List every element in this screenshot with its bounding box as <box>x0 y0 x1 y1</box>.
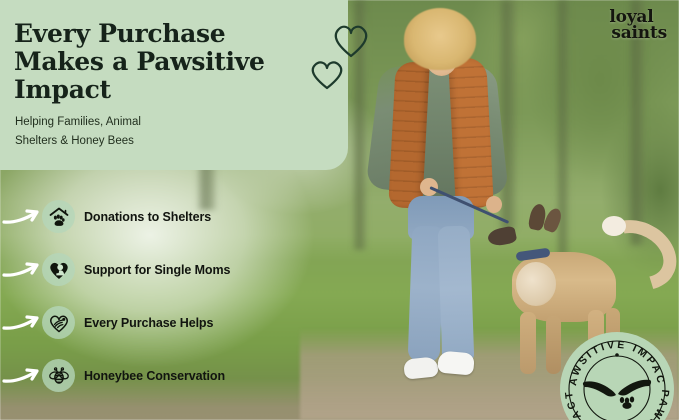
status-badge: PAWSITIVE IMPACT PAWSITIVE IMPACT <box>558 330 676 420</box>
page-title: Every Purchase Makes a Pawsitive Impact <box>0 0 348 104</box>
list-item: Every Purchase Helps <box>0 296 300 349</box>
list-item: Donations to Shelters <box>0 190 300 243</box>
heart-hand-icon <box>42 306 75 339</box>
dog-leg <box>520 312 536 374</box>
dog-tail-tip <box>602 216 626 236</box>
shelter-paw-icon <box>42 200 75 233</box>
arrow-right-icon <box>2 202 42 228</box>
tree-trunk <box>498 0 518 230</box>
honeybee-icon <box>42 359 75 392</box>
feature-label: Support for Single Moms <box>84 263 230 277</box>
promo-banner: Every Purchase Makes a Pawsitive Impact … <box>0 0 679 420</box>
heart-mother-child-icon <box>42 253 75 286</box>
hero-card: Every Purchase Makes a Pawsitive Impact … <box>0 0 348 170</box>
impact-feature-list: Donations to Shelters Support for Single… <box>0 190 300 402</box>
woman-shoe-left <box>403 356 439 379</box>
logo-line-2: saints <box>609 25 667 41</box>
list-item: Honeybee Conservation <box>0 349 300 402</box>
feature-label: Honeybee Conservation <box>84 369 225 383</box>
dog-chest <box>516 262 556 306</box>
arrow-right-icon <box>2 361 42 387</box>
hero-subtitle: Helping Families, Animal Shelters & Hone… <box>0 104 348 150</box>
brand-logo[interactable]: loyal saints <box>609 9 667 41</box>
heart-outline-icon <box>330 22 372 60</box>
arrow-right-icon <box>2 308 42 334</box>
woman-shoe-right <box>437 350 475 375</box>
woman-leg-right <box>438 225 475 366</box>
heart-decorations <box>308 22 372 94</box>
feature-label: Donations to Shelters <box>84 210 211 224</box>
feature-label: Every Purchase Helps <box>84 316 213 330</box>
list-item: Support for Single Moms <box>0 243 300 296</box>
woman-vest-right <box>448 57 494 209</box>
woman-hand <box>486 196 502 213</box>
woman-hair <box>404 8 476 70</box>
heart-outline-icon <box>308 58 346 92</box>
arrow-right-icon <box>2 255 42 281</box>
